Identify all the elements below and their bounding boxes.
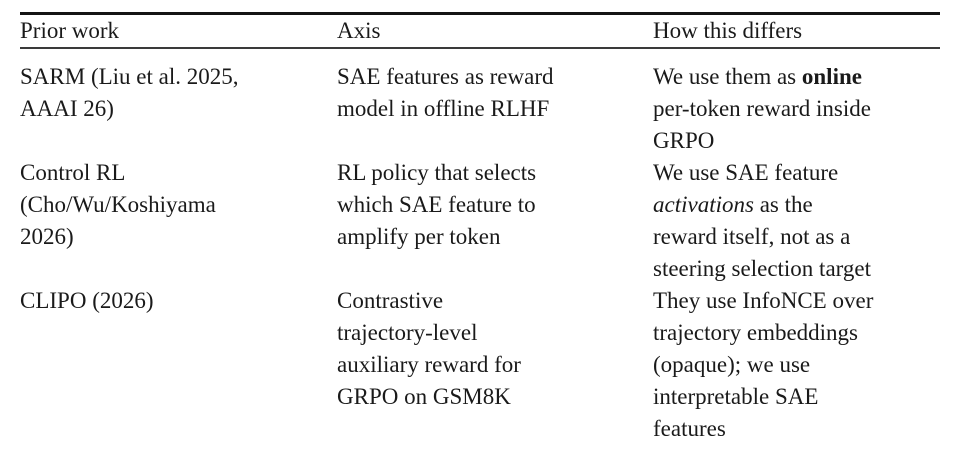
- cell-prior-work: CLIPO (2026): [20, 285, 337, 445]
- table-header-row: Prior work Axis How this differs: [20, 15, 940, 47]
- cell-line: (opaque); we use: [653, 349, 940, 381]
- cell-line: reward itself, not as a: [653, 221, 940, 253]
- column-header-how-this-differs: How this differs: [653, 15, 940, 47]
- cell-line: features: [653, 413, 940, 445]
- table-row: CLIPO (2026) Contrastive trajectory-leve…: [20, 285, 940, 445]
- prior-work-comparison-table: Prior work Axis How this differs: [20, 15, 940, 47]
- emphasis-bold: online: [802, 64, 862, 89]
- cell-line: Control RL: [20, 157, 337, 189]
- table-header: Prior work Axis How this differs: [20, 15, 940, 47]
- cell-line: They use InfoNCE over: [653, 285, 940, 317]
- cell-line: which SAE feature to: [337, 189, 653, 221]
- cell-prior-work: SARM (Liu et al. 2025, AAAI 26): [20, 49, 337, 157]
- cell-text: as the: [754, 192, 813, 217]
- cell-line: trajectory embeddings: [653, 317, 940, 349]
- cell-text: We use them as: [653, 64, 802, 89]
- cell-line: interpretable SAE: [653, 381, 940, 413]
- table-row: Control RL (Cho/Wu/Koshiyama 2026) RL po…: [20, 157, 940, 285]
- cell-line: GRPO: [653, 125, 940, 157]
- comparison-table-container: Prior work Axis How this differs SARM (L…: [20, 12, 940, 445]
- cell-line: model in offline RLHF: [337, 93, 653, 125]
- cell-line: SARM (Liu et al. 2025,: [20, 61, 337, 93]
- cell-line: amplify per token: [337, 221, 653, 253]
- cell-line: CLIPO (2026): [20, 285, 337, 317]
- cell-axis: RL policy that selects which SAE feature…: [337, 157, 653, 285]
- cell-line: SAE features as reward: [337, 61, 653, 93]
- cell-line: We use SAE feature: [653, 157, 940, 189]
- column-header-prior-work: Prior work: [20, 15, 337, 47]
- cell-line: auxiliary reward for: [337, 349, 653, 381]
- cell-line: GRPO on GSM8K: [337, 381, 653, 413]
- cell-prior-work: Control RL (Cho/Wu/Koshiyama 2026): [20, 157, 337, 285]
- cell-line: We use them as online: [653, 61, 940, 93]
- table-row: SARM (Liu et al. 2025, AAAI 26) SAE feat…: [20, 49, 940, 157]
- cell-axis: SAE features as reward model in offline …: [337, 49, 653, 157]
- cell-how-this-differs: We use SAE feature activations as the re…: [653, 157, 940, 285]
- cell-axis: Contrastive trajectory-level auxiliary r…: [337, 285, 653, 445]
- cell-how-this-differs: They use InfoNCE over trajectory embeddi…: [653, 285, 940, 445]
- cell-line: (Cho/Wu/Koshiyama: [20, 189, 337, 221]
- cell-line: RL policy that selects: [337, 157, 653, 189]
- cell-line: per-token reward inside: [653, 93, 940, 125]
- cell-line: activations as the: [653, 189, 940, 221]
- cell-line: trajectory-level: [337, 317, 653, 349]
- cell-line: 2026): [20, 221, 337, 253]
- prior-work-comparison-body: SARM (Liu et al. 2025, AAAI 26) SAE feat…: [20, 49, 940, 445]
- cell-line: steering selection target: [653, 253, 940, 285]
- cell-line: Contrastive: [337, 285, 653, 317]
- column-header-axis: Axis: [337, 15, 653, 47]
- cell-how-this-differs: We use them as online per-token reward i…: [653, 49, 940, 157]
- emphasis-italic: activations: [653, 192, 754, 217]
- table-body: SARM (Liu et al. 2025, AAAI 26) SAE feat…: [20, 49, 940, 445]
- cell-line: AAAI 26): [20, 93, 337, 125]
